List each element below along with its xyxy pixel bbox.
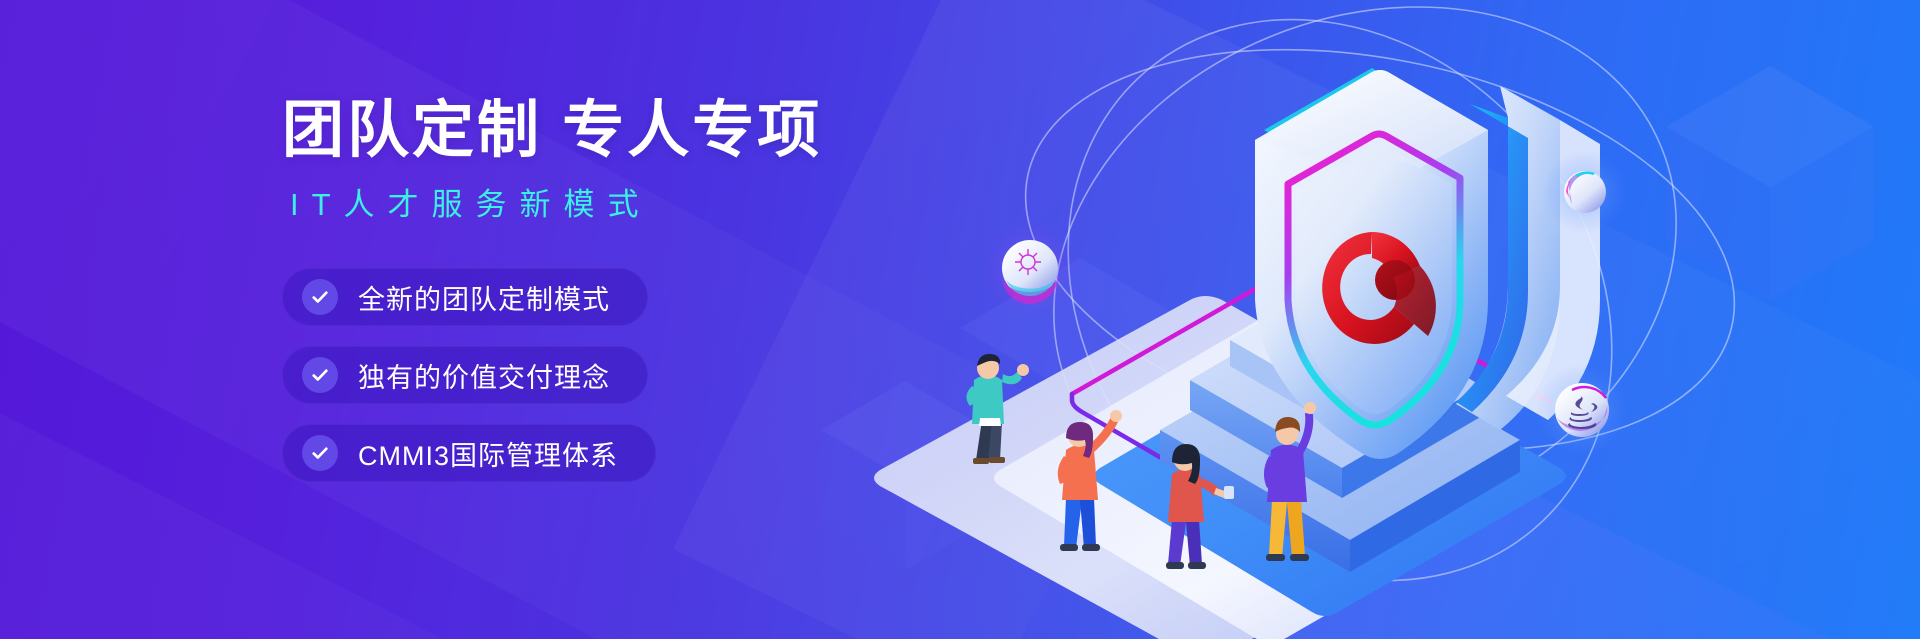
feature-pill-2[interactable]: 独有的价值交付理念 bbox=[282, 346, 648, 404]
feature-pill-1[interactable]: 全新的团队定制模式 bbox=[282, 268, 648, 326]
feature-pill-label: CMMI3国际管理体系 bbox=[358, 434, 618, 473]
java-glyph bbox=[1568, 396, 1597, 429]
page-subtitle: IT人才服务新模式 bbox=[290, 179, 1042, 224]
person-red-jacket bbox=[1166, 444, 1234, 569]
feature-pill-list: 全新的团队定制模式 独有的价值交付理念 CMMI3国际管理体系 bbox=[282, 268, 1042, 482]
feature-pill-label: 独有的价值交付理念 bbox=[358, 356, 610, 395]
red-c-logo bbox=[1322, 232, 1436, 344]
page-title: 团队定制 专人专项 bbox=[282, 96, 1042, 165]
iso-steps bbox=[1160, 280, 1520, 572]
banner-copy: 团队定制 专人专项 IT人才服务新模式 全新的团队定制模式 独有的价值交付理念 bbox=[282, 96, 1042, 482]
feature-pill-3[interactable]: CMMI3国际管理体系 bbox=[282, 424, 656, 482]
background-band bbox=[1072, 380, 1920, 639]
orbit-rings bbox=[956, 0, 1772, 639]
feature-pill-label: 全新的团队定制模式 bbox=[358, 278, 610, 317]
plain-sphere-node bbox=[1543, 150, 1627, 234]
hero-banner: 团队定制 专人专项 IT人才服务新模式 全新的团队定制模式 独有的价值交付理念 bbox=[0, 0, 1920, 639]
java-sphere-node bbox=[1536, 364, 1628, 456]
security-shield bbox=[1255, 68, 1600, 459]
check-icon bbox=[302, 357, 338, 393]
person-coral-shirt bbox=[1058, 410, 1122, 551]
background-cube bbox=[1640, 40, 1900, 300]
check-icon bbox=[302, 435, 338, 471]
person-purple-shirt bbox=[1264, 402, 1316, 561]
check-icon bbox=[302, 279, 338, 315]
